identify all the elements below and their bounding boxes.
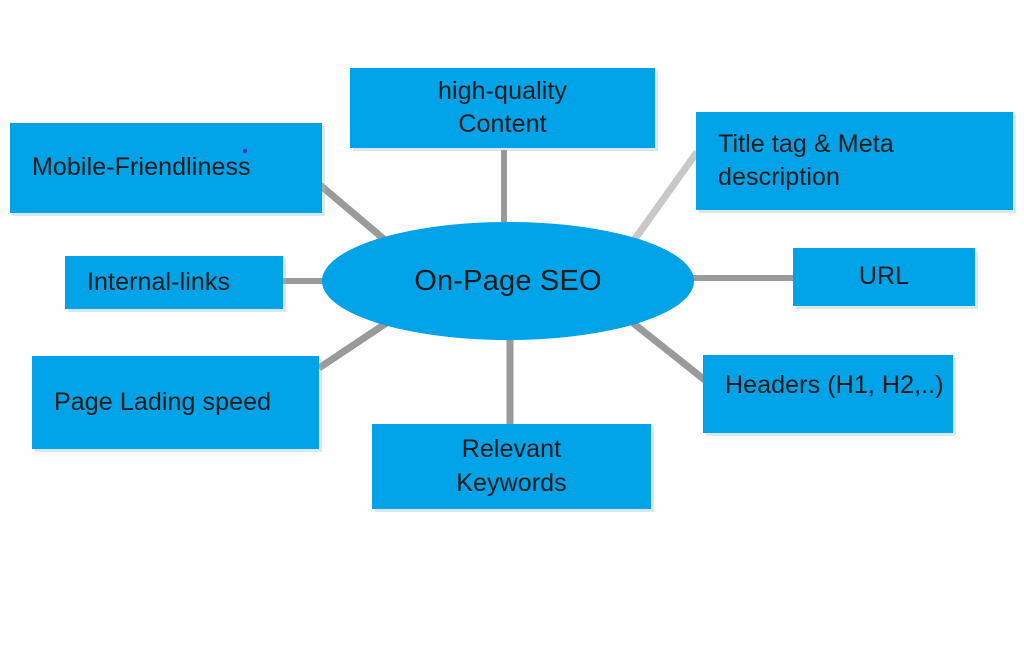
node-label-high-quality-content-line-2: Content bbox=[458, 108, 546, 141]
node-mobile-friendliness[interactable]: Mobile-Friendliness bbox=[10, 123, 322, 213]
node-label-internal-links: Internal-links bbox=[87, 266, 230, 299]
node-label-url: URL bbox=[859, 260, 909, 293]
node-label-relevant-keywords-line-2: Keywords bbox=[456, 467, 567, 500]
node-label-title-tag-meta-description-line-1: Title tag & Meta bbox=[718, 128, 894, 161]
node-title-tag-meta-description[interactable]: Title tag & Metadescription bbox=[696, 112, 1013, 210]
center-node-on-page-seo[interactable]: On-Page SEO bbox=[322, 222, 694, 340]
node-internal-links[interactable]: Internal-links bbox=[65, 256, 283, 309]
node-label-mobile-friendliness: Mobile-Friendliness bbox=[32, 151, 251, 184]
node-headers-h1-h2[interactable]: Headers (H1, H2,..) bbox=[703, 355, 953, 433]
wire-to-title-tag-meta-description bbox=[632, 152, 697, 243]
wire-to-page-lading-speed bbox=[319, 322, 388, 368]
purple-speck bbox=[243, 149, 247, 153]
diagram-canvas: On-Page SEO high-qualityContentTitle tag… bbox=[0, 0, 1024, 660]
node-label-high-quality-content-line-1: high-quality bbox=[438, 75, 567, 108]
wire-to-mobile-friendliness bbox=[320, 185, 385, 240]
center-node-label: On-Page SEO bbox=[414, 265, 602, 298]
node-label-relevant-keywords-line-1: Relevant bbox=[462, 433, 561, 466]
node-label-headers-h1-h2: Headers (H1, H2,..) bbox=[725, 369, 944, 402]
node-relevant-keywords[interactable]: RelevantKeywords bbox=[372, 424, 651, 509]
node-url[interactable]: URL bbox=[793, 248, 975, 306]
node-label-title-tag-meta-description-line-2: description bbox=[718, 161, 840, 194]
node-page-lading-speed[interactable]: Page Lading speed bbox=[32, 356, 319, 449]
wire-to-headers-h1-h2 bbox=[633, 323, 706, 381]
node-label-page-lading-speed: Page Lading speed bbox=[54, 386, 271, 419]
node-high-quality-content[interactable]: high-qualityContent bbox=[350, 68, 655, 148]
